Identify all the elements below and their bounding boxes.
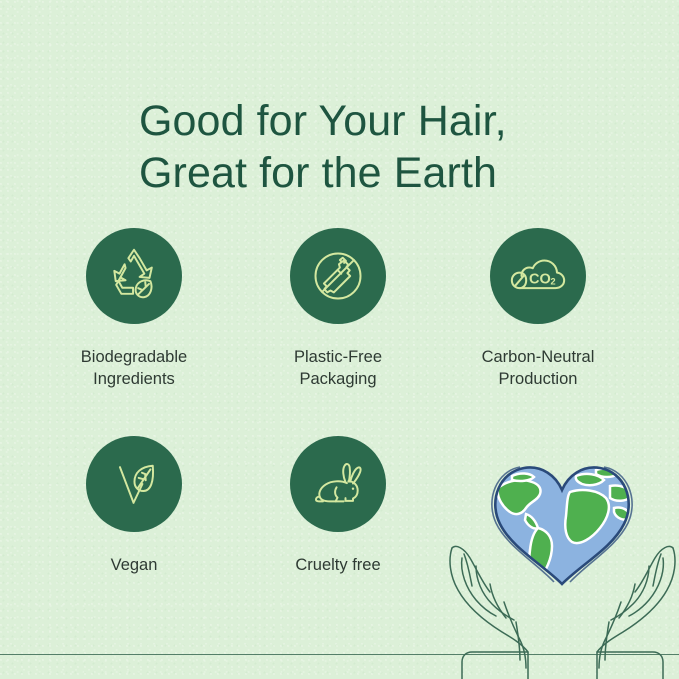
badge-circle [86,436,182,532]
badge-cruelty-free: Cruelty free [254,436,422,576]
badge-caption: Plastic-Free Packaging [254,346,422,390]
bottom-divider [0,654,679,655]
badge-circle: CO 2 [490,228,586,324]
co2-subscript: 2 [550,277,555,287]
badge-caption: Cruelty free [254,554,422,576]
co2-cloud-leaf-icon: CO 2 [507,245,569,307]
rabbit-icon [308,454,368,514]
badge-caption: Biodegradable Ingredients [50,346,218,390]
badge-circle [290,436,386,532]
recycle-leaf-icon [104,246,164,306]
badge-plastic-free-packaging: Plastic-Free Packaging [254,228,422,390]
page-title: Good for Your Hair, Great for the Earth [139,95,659,199]
badge-caption: Vegan [50,554,218,576]
promo-graphic: Good for Your Hair, Great for the Earth [0,0,679,679]
badge-caption: Carbon-Neutral Production [454,346,622,390]
badge-vegan: Vegan [50,436,218,576]
badge-biodegradable-ingredients: Biodegradable Ingredients [50,228,218,390]
vegan-leaf-v-icon [104,454,164,514]
badge-circle [290,228,386,324]
no-plastic-bottle-icon [308,246,368,306]
co2-label: CO [529,271,551,287]
badge-carbon-neutral-production: CO 2 Carbon-Neutral Production [454,228,622,390]
hands-holding-heart-earth-illustration [446,436,679,679]
badge-circle [86,228,182,324]
